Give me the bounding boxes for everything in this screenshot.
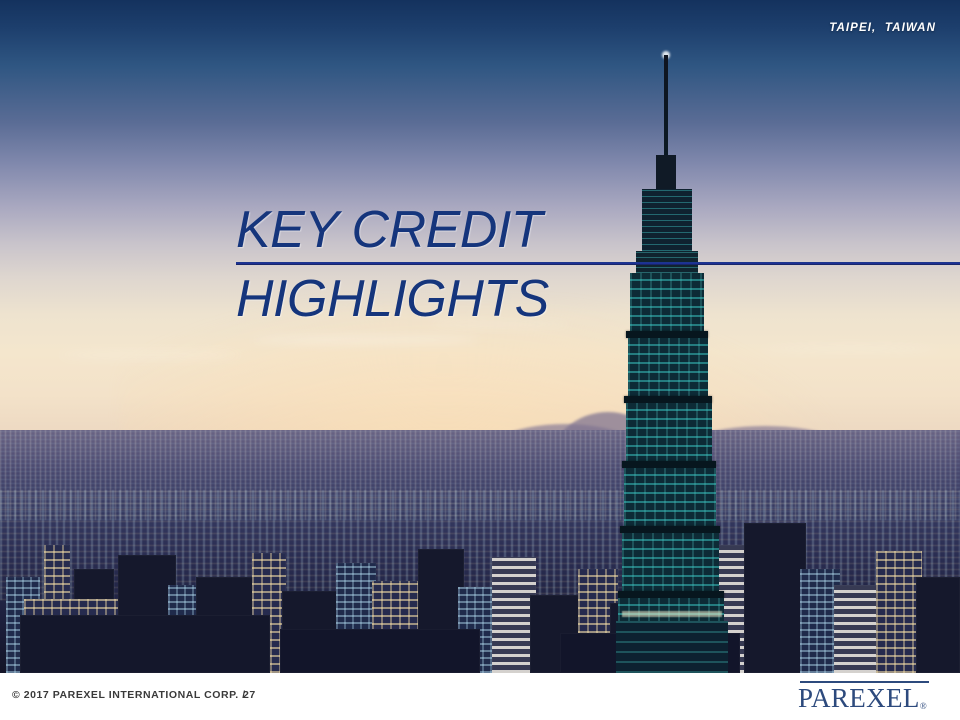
tower-light-band xyxy=(622,611,722,617)
logo-wordmark: PAREXEL® xyxy=(798,684,942,712)
tower-mast xyxy=(656,155,676,193)
title-line-2: HIGHLIGHTS xyxy=(236,273,960,325)
location-label: TAIPEI, TAIWAN xyxy=(829,22,936,34)
title-divider-rule xyxy=(236,262,960,265)
tower-ledge xyxy=(620,526,720,533)
tower-segment xyxy=(624,468,716,530)
copyright-text: © 2017 PAREXEL INTERNATIONAL CORP. / xyxy=(12,689,246,701)
cloud-streak xyxy=(760,345,940,352)
foreground-building xyxy=(20,615,270,673)
tower-ledge xyxy=(622,461,716,468)
parexel-logo: PAREXEL® xyxy=(798,681,942,712)
registered-trademark-icon: ® xyxy=(920,701,927,711)
tower-base xyxy=(616,621,728,673)
page-number: 27 xyxy=(243,689,256,701)
slide-title: KEY CREDIT HIGHLIGHTS xyxy=(236,204,960,325)
cloud-streak xyxy=(60,352,240,358)
tower-ledge xyxy=(624,396,712,403)
building xyxy=(834,585,882,673)
taipei-101-tower xyxy=(612,55,732,673)
building xyxy=(744,523,806,673)
tower-segment xyxy=(622,533,719,595)
tower-segment xyxy=(628,338,708,400)
tower-ledge xyxy=(626,331,708,338)
title-line-1: KEY CREDIT xyxy=(236,204,960,256)
tower-segment xyxy=(626,403,712,465)
background-photo: TAIPEI, TAIWAN KEY CREDIT HIGHLIGHTS xyxy=(0,0,960,673)
tower-ledge xyxy=(618,591,724,598)
slide: TAIPEI, TAIWAN KEY CREDIT HIGHLIGHTS © 2… xyxy=(0,0,960,720)
slide-footer: © 2017 PAREXEL INTERNATIONAL CORP. / 27 … xyxy=(0,673,960,720)
foreground-building xyxy=(280,629,480,673)
spire xyxy=(664,55,668,167)
cloud-streak xyxy=(250,336,480,344)
building xyxy=(916,577,960,673)
cityscape xyxy=(0,430,960,673)
logo-wordmark-text: PAREXEL xyxy=(798,683,920,713)
